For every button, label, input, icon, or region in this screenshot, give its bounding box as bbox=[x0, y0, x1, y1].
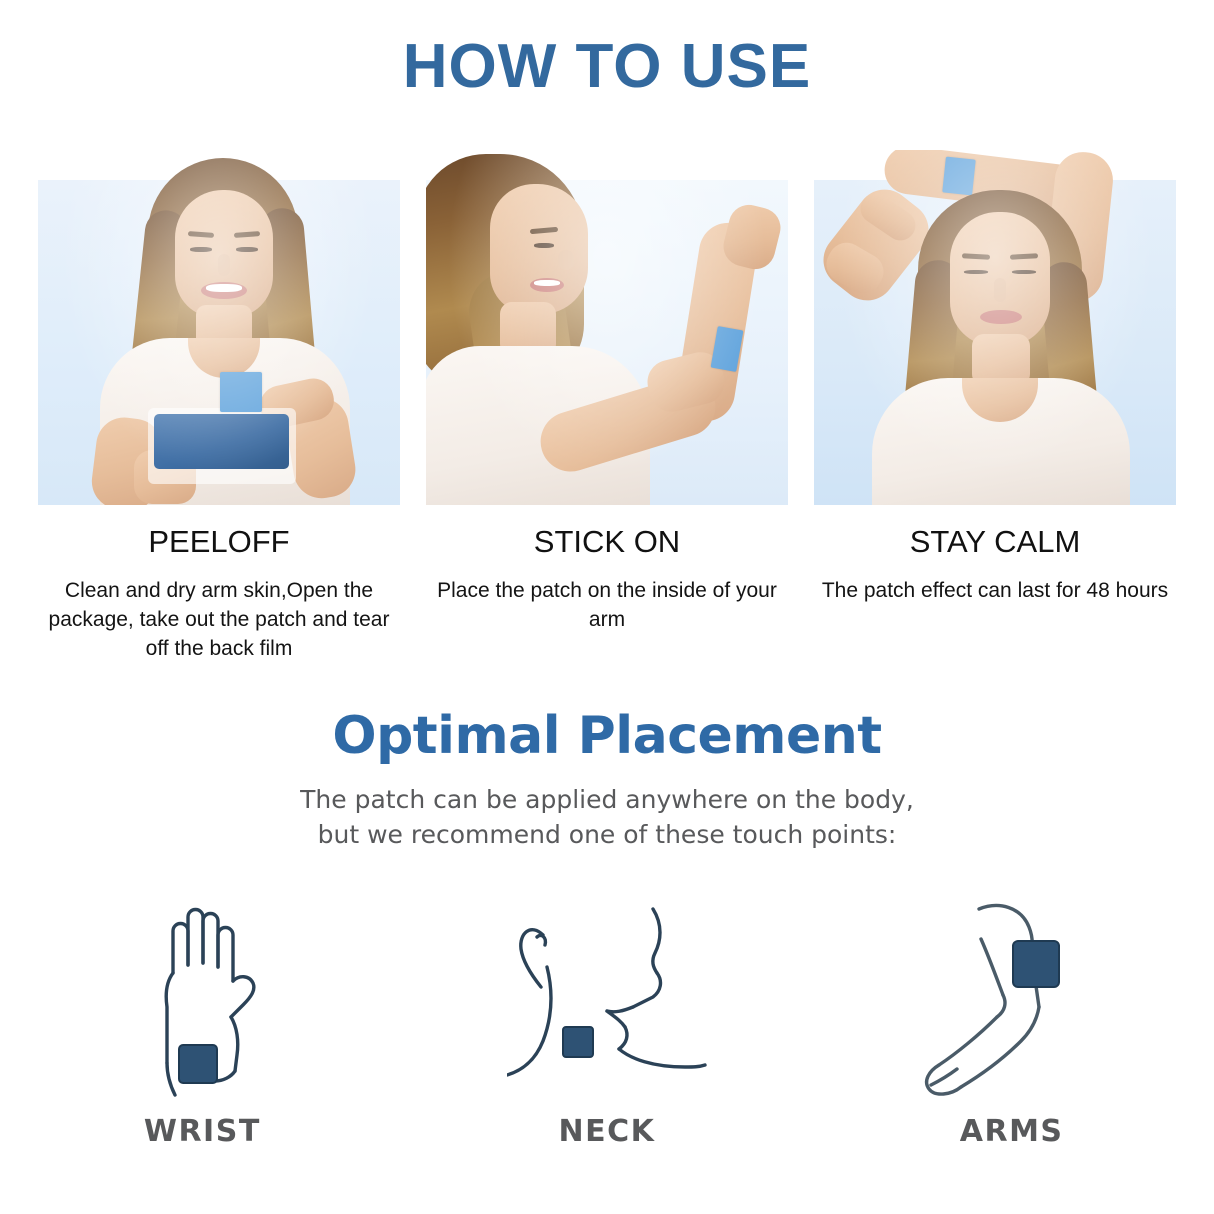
step-3-description: The patch effect can last for 48 hours bbox=[814, 577, 1176, 606]
hand-wrist-icon bbox=[127, 895, 277, 1110]
subtitle-line-2: but we recommend one of these touch poin… bbox=[0, 818, 1214, 853]
placement-spot-arms: ARMS bbox=[852, 895, 1172, 1149]
patch-square bbox=[563, 1027, 593, 1057]
placement-spot-neck: NECK bbox=[447, 895, 767, 1149]
step-peeloff: PEELOFF Clean and dry arm skin,Open the … bbox=[38, 150, 400, 690]
arms-icon-box bbox=[852, 895, 1172, 1110]
patch-square bbox=[179, 1045, 217, 1083]
page-title: HOW TO USE bbox=[0, 36, 1214, 98]
subtitle-line-1: The patch can be applied anywhere on the… bbox=[0, 783, 1214, 818]
step-1-photo bbox=[38, 150, 400, 505]
placement-icons-row: WRIST bbox=[0, 895, 1214, 1185]
patch-square bbox=[1013, 941, 1059, 987]
step-2-description: Place the patch on the inside of your ar… bbox=[426, 577, 788, 635]
photo-scene-stay-calm bbox=[814, 150, 1176, 505]
arms-label: ARMS bbox=[852, 1114, 1172, 1149]
photo-scene-peeloff bbox=[38, 150, 400, 505]
neck-icon-box bbox=[447, 895, 767, 1110]
how-to-use-infographic: HOW TO USE bbox=[0, 0, 1214, 1214]
steps-row: PEELOFF Clean and dry arm skin,Open the … bbox=[0, 150, 1214, 690]
bent-arm-icon bbox=[917, 895, 1107, 1110]
step-stick-on: STICK ON Place the patch on the inside o… bbox=[426, 150, 788, 690]
step-2-title: STICK ON bbox=[426, 525, 788, 559]
optimal-placement-title: Optimal Placement bbox=[0, 706, 1214, 766]
placement-spot-wrist: WRIST bbox=[42, 895, 362, 1149]
step-1-description: Clean and dry arm skin,Open the package,… bbox=[38, 577, 400, 664]
neck-label: NECK bbox=[447, 1114, 767, 1149]
photo-scene-stick-on bbox=[426, 150, 788, 505]
step-stay-calm: STAY CALM The patch effect can last for … bbox=[814, 150, 1176, 690]
step-3-photo bbox=[814, 150, 1176, 505]
optimal-placement-subtitle: The patch can be applied anywhere on the… bbox=[0, 783, 1214, 852]
wrist-label: WRIST bbox=[42, 1114, 362, 1149]
step-3-title: STAY CALM bbox=[814, 525, 1176, 559]
step-1-title: PEELOFF bbox=[38, 525, 400, 559]
wrist-icon-box bbox=[42, 895, 362, 1110]
head-profile-neck-icon bbox=[507, 895, 707, 1110]
step-2-photo bbox=[426, 150, 788, 505]
